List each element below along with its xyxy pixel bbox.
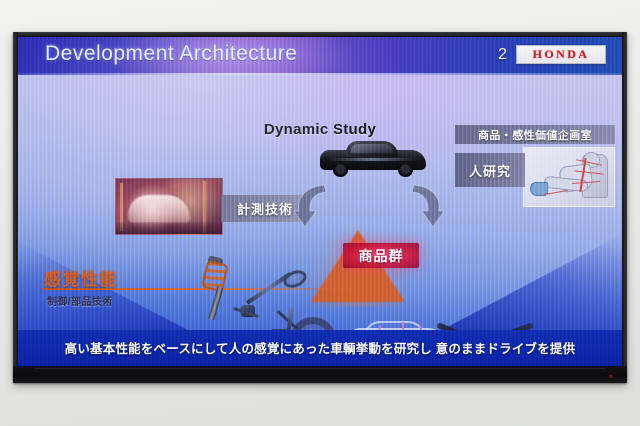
curved-down-arrow-icon xyxy=(410,183,444,229)
hero-vehicle-image xyxy=(320,140,426,178)
strut-spring xyxy=(201,260,229,292)
human-research-figure-image xyxy=(523,147,615,207)
photo-test-vehicle xyxy=(128,195,190,223)
sensory-performance-subtitle-wrap: 制御/部品技術 xyxy=(47,292,113,310)
page-title: Development Architecture xyxy=(45,42,297,66)
monitor-bezel-seam xyxy=(35,368,605,369)
product-group-badge: 商品群 xyxy=(343,243,419,268)
hero-vehicle-glass xyxy=(351,144,393,153)
sensory-performance-label: 感覚性能 xyxy=(44,265,118,290)
background-wedge-right xyxy=(442,234,622,330)
human-research-label: 人研究 xyxy=(455,153,525,187)
monitor-bezel-bottom xyxy=(13,366,627,383)
hero-vehicle-highlight xyxy=(328,158,416,161)
product-group-text: 商品群 xyxy=(359,246,404,266)
monitor-bezel-right xyxy=(622,32,627,383)
slide-bottom-banner-inner: 高い基本性能をベースにして人の感覚にあった車輌挙動を研究し 意のままドライブを提… xyxy=(18,338,622,358)
slide-body: 計測技術 Dynamic Study xyxy=(18,75,622,330)
slide-screen: Development Architecture 2 HONDA 計測技術 xyxy=(18,37,622,366)
honda-logo: HONDA xyxy=(516,45,606,64)
suspension-strut-image xyxy=(198,260,232,322)
slide-bottom-banner: 高い基本性能をベースにして人の感覚にあった車輌挙動を研究し 意のままドライブを提… xyxy=(18,330,622,366)
photo-floor xyxy=(116,222,222,234)
sensory-performance-subtitle: 制御/部品技術 xyxy=(47,297,113,308)
hero-vehicle-front-wheel xyxy=(333,163,348,177)
slide-header-bar: Development Architecture 2 HONDA xyxy=(18,37,622,75)
product-sensory-value-panel: 商品・感性価値企画室 人研究 xyxy=(455,125,615,220)
measurement-technology-text: 計測技術 xyxy=(237,199,293,218)
presentation-display-monitor: Development Architecture 2 HONDA 計測技術 xyxy=(13,32,627,383)
slide-bottom-banner-text: 高い基本性能をベースにして人の感覚にあった車輌挙動を研究し 意のままドライブを提… xyxy=(65,342,576,356)
monitor-power-indicator xyxy=(609,375,613,378)
honda-logo-text: HONDA xyxy=(533,47,590,62)
measurement-facility-photo xyxy=(115,178,223,235)
strut-rod xyxy=(208,286,223,320)
human-research-text: 人研究 xyxy=(469,161,511,180)
dynamic-study-text: Dynamic Study xyxy=(264,121,376,138)
product-sensory-panel-header-text: 商品・感性価値企画室 xyxy=(478,127,592,143)
hero-vehicle-rear-wheel xyxy=(398,163,413,177)
slide-page-number: 2 xyxy=(498,46,507,64)
curved-down-arrow-icon xyxy=(294,183,328,229)
sensory-performance-title: 感覚性能 xyxy=(44,270,118,289)
product-sensory-panel-header: 商品・感性価値企画室 xyxy=(455,125,615,144)
